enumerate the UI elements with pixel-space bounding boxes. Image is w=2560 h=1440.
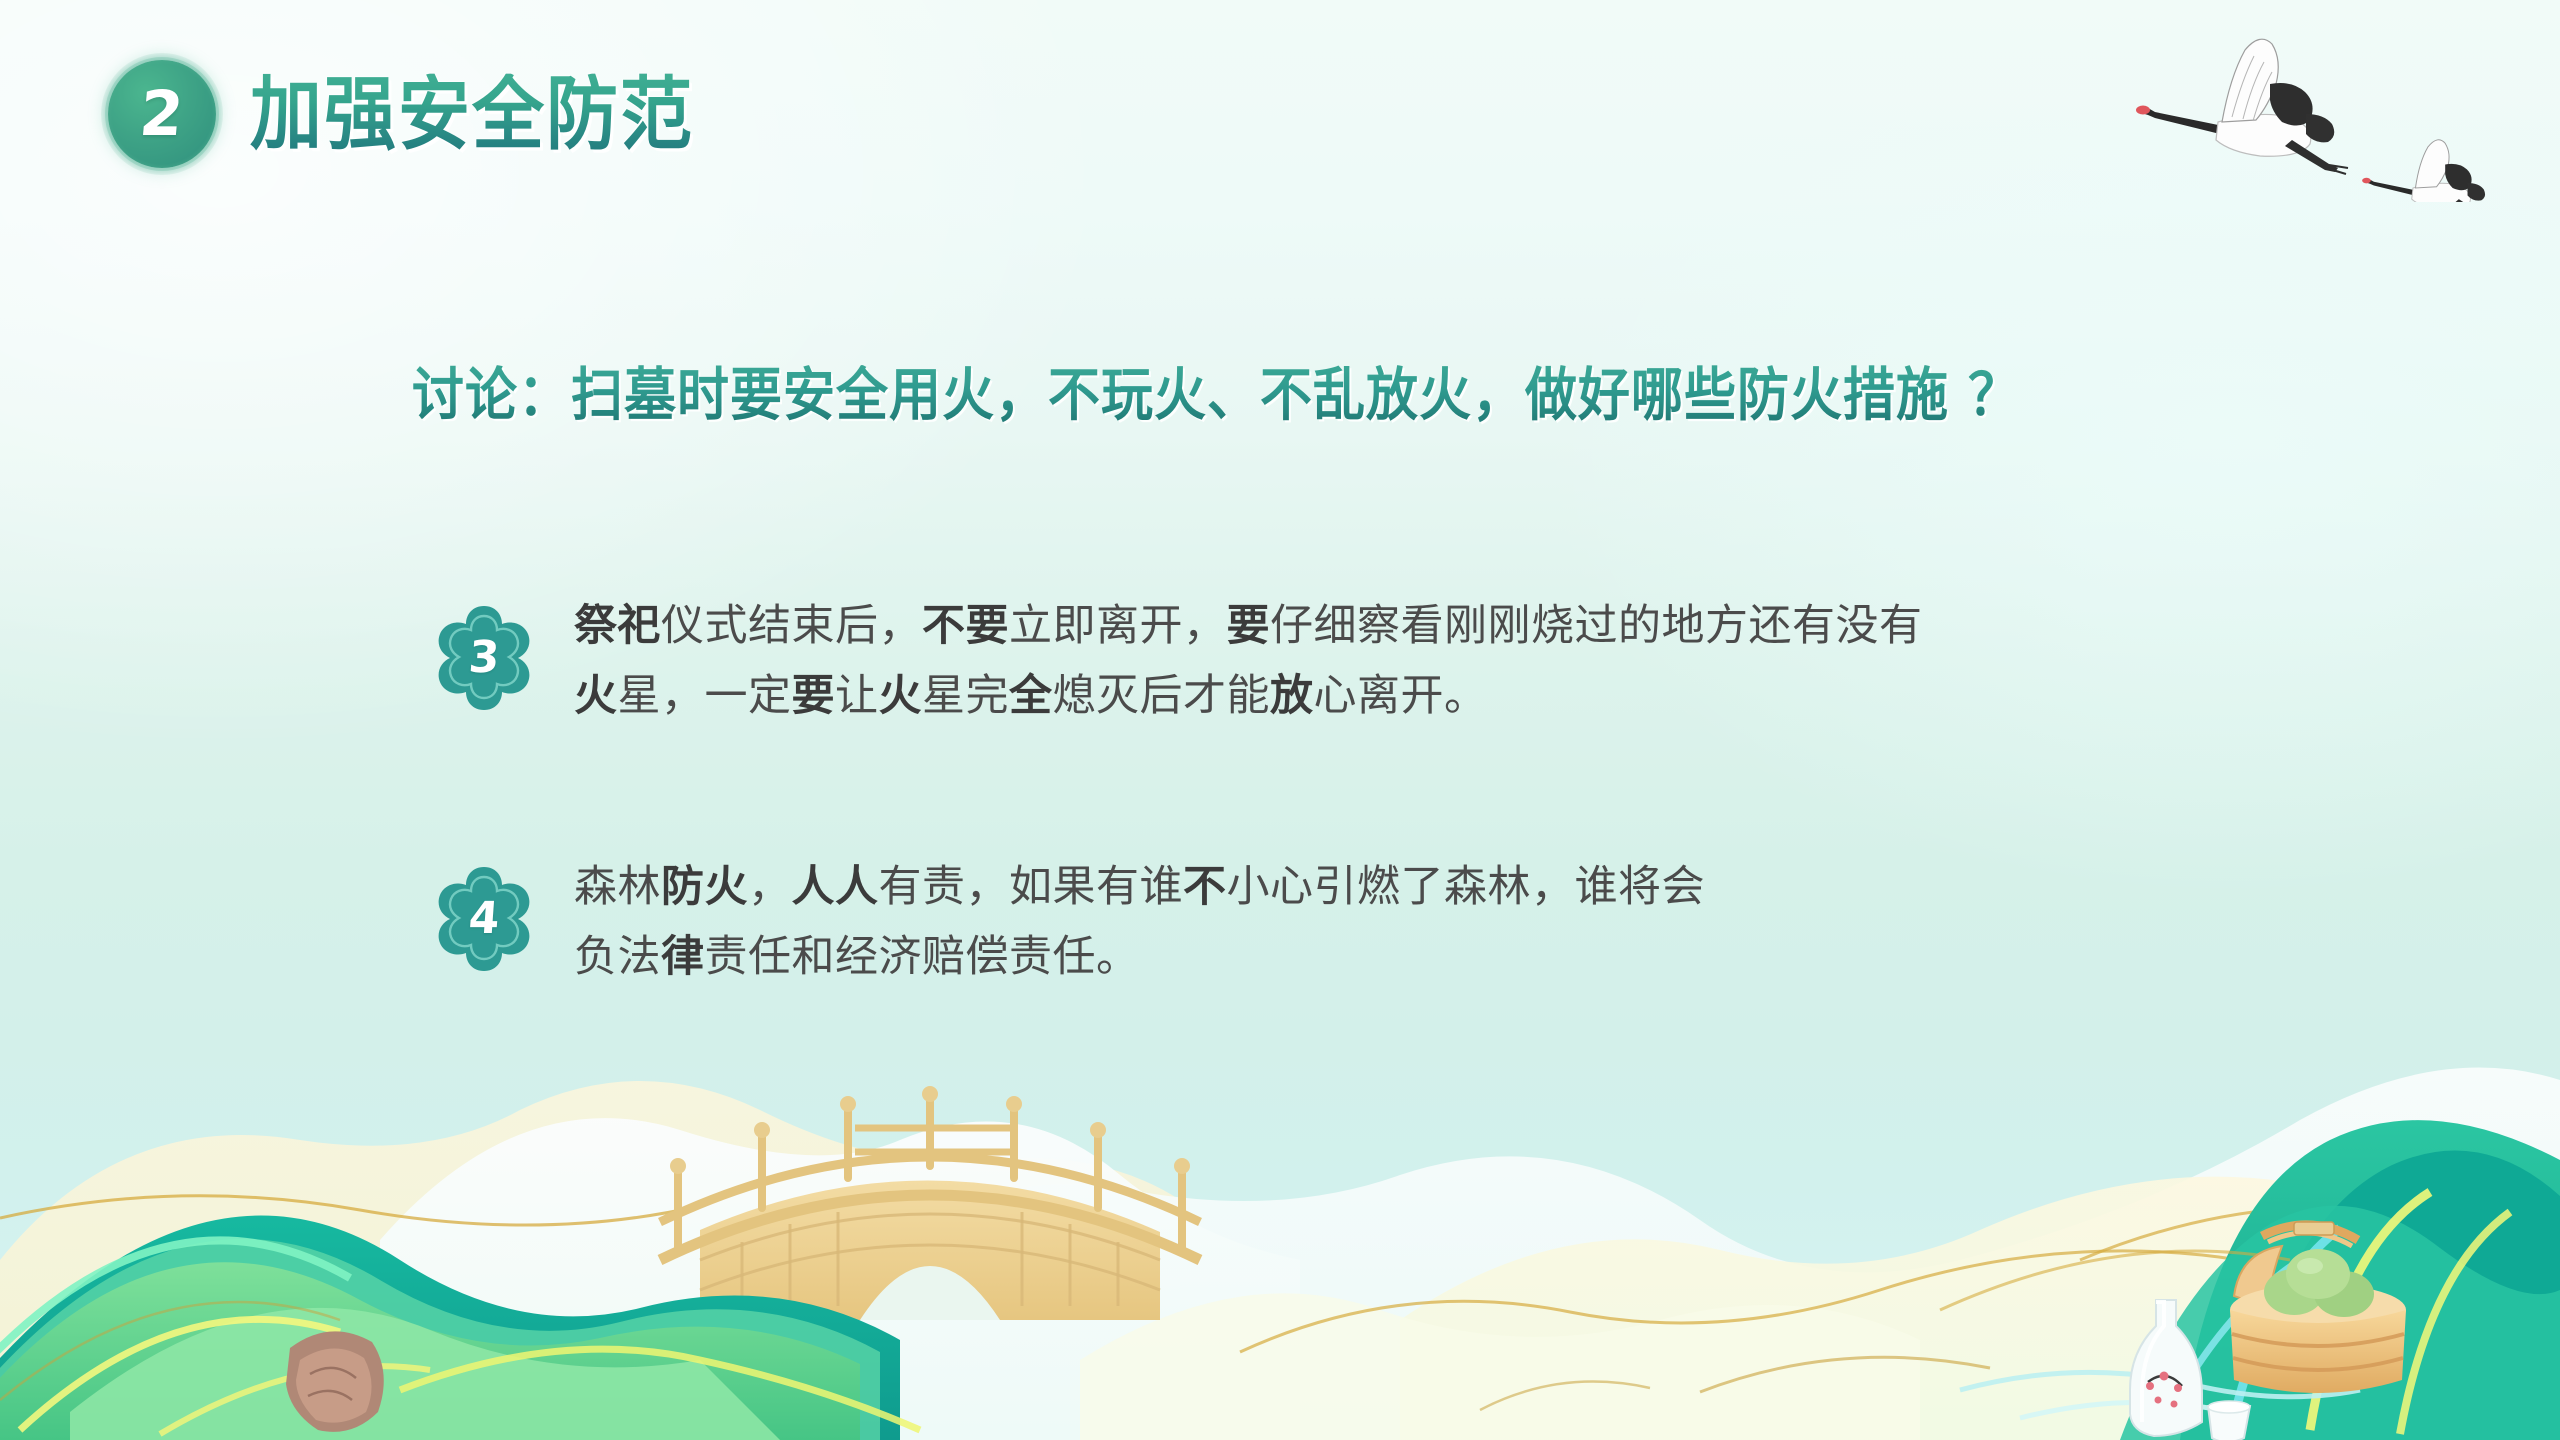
item-body-text: 祭祀仪式结束后，不要立即离开，要仔细察看刚刚烧过的地方还有没有 火星，一定要让火… [574,578,1923,731]
item-span: 仪式结束后， [661,601,922,651]
list-item: 4 森林防火，人人有责，如果有谁不小心引燃了森林，谁将会 负法律责任和经济赔偿责… [428,839,2068,992]
item-line: 祭祀仪式结束后，不要立即离开，要仔细察看刚刚烧过的地方还有没有 [574,592,1923,662]
slide-header: 2 加强安全防范 [108,60,694,168]
item-span: 放 [1270,671,1314,721]
content-list: 3 祭祀仪式结束后，不要立即离开，要仔细察看刚刚烧过的地方还有没有 火星，一定要… [428,578,2068,1101]
header-badge-number: 2 [138,83,187,145]
item-span: 熄灭后才能 [1053,671,1271,721]
item-span: 火 [574,671,618,721]
item-span: ， [748,862,792,912]
item-body-text: 森林防火，人人有责，如果有谁不小心引燃了森林，谁将会 负法律责任和经济赔偿责任。 [574,839,1705,992]
item-number: 4 [424,863,544,975]
cloud-quatrefoil-badge-icon: 3 [428,602,540,714]
item-span: 有责，如果有谁 [879,862,1184,912]
item-span: 不要 [922,601,1009,651]
item-line: 负法律责任和经济赔偿责任。 [574,923,1705,993]
item-span: 要 [1227,601,1271,651]
flying-cranes-icon [2110,22,2530,202]
item-span: 心离开。 [1314,671,1488,721]
item-span: 小心引燃了森林，谁将会 [1227,862,1706,912]
item-span: 仔细察看刚刚烧过的地方还有没有 [1270,601,1923,651]
item-span: 立即离开， [1009,601,1227,651]
item-span: 星，一定 [618,671,792,721]
item-span: 防火 [661,862,748,912]
item-span: 人人 [792,862,879,912]
brush-circle-icon: 2 [108,60,216,168]
item-span: 责任和经济赔偿责任。 [705,932,1140,982]
item-span: 全 [1009,671,1053,721]
item-span: 让 [835,671,879,721]
list-item: 3 祭祀仪式结束后，不要立即离开，要仔细察看刚刚烧过的地方还有没有 火星，一定要… [428,578,2068,731]
item-span: 不 [1183,862,1227,912]
item-span: 要 [792,671,836,721]
slide-root: 2 加强安全防范 [0,0,2560,1440]
cloud-quatrefoil-badge-icon: 4 [428,863,540,975]
item-span: 火 [879,671,923,721]
item-span: 森林 [574,862,661,912]
item-span: 星完 [922,671,1009,721]
item-number: 3 [424,602,544,714]
discussion-question: 讨论：扫墓时要安全用火，不玩火、不乱放火，做好哪些防火措施 ？ [412,365,2021,428]
item-line: 火星，一定要让火星完全熄灭后才能放心离开。 [574,662,1923,732]
item-span: 负法 [574,932,661,982]
item-span: 祭祀 [574,601,661,651]
item-span: 律 [661,932,705,982]
item-line: 森林防火，人人有责，如果有谁不小心引燃了森林，谁将会 [574,853,1705,923]
page-title: 加强安全防范 [250,74,694,155]
